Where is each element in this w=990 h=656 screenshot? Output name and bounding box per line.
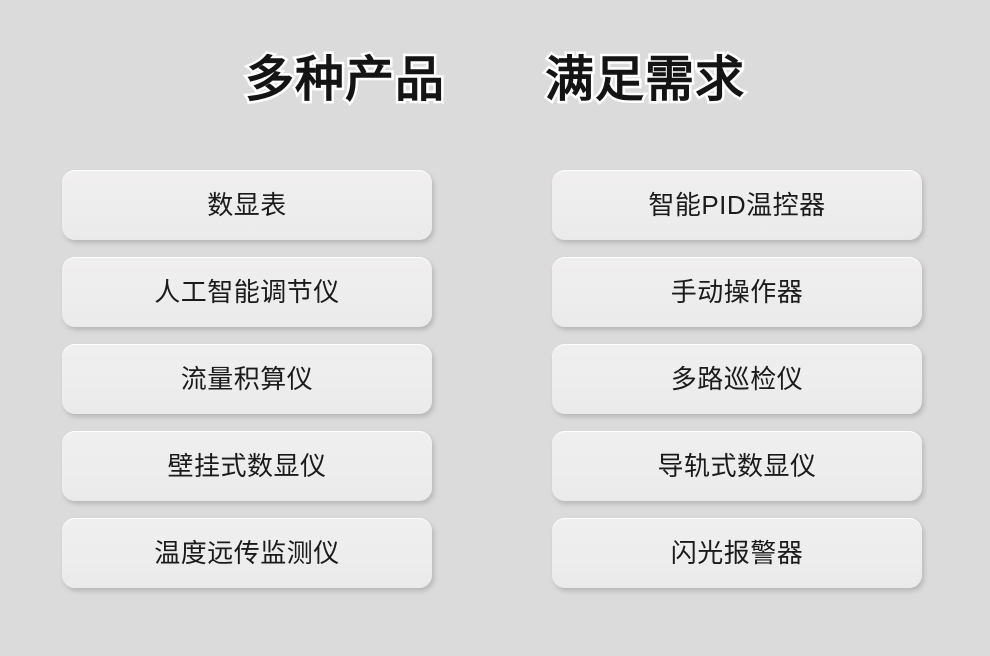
product-chip-multi-channel-scanner[interactable]: 多路巡检仪 [552, 344, 922, 414]
product-showcase-page: 多种产品 满足需求 数显表 智能PID温控器 人工智能调节仪 手动操作器 流量积… [0, 0, 990, 656]
product-chip-label: 手动操作器 [671, 279, 804, 305]
page-title: 多种产品 满足需求 [245, 56, 745, 105]
product-chip-shuxianbiao[interactable]: 数显表 [62, 170, 432, 240]
product-chip-wall-mounted-display[interactable]: 壁挂式数显仪 [62, 431, 432, 501]
product-chip-pid-temperature-controller[interactable]: 智能PID温控器 [552, 170, 922, 240]
product-chip-label: 壁挂式数显仪 [167, 453, 326, 479]
product-chip-grid: 数显表 智能PID温控器 人工智能调节仪 手动操作器 流量积算仪 多路巡检仪 壁… [62, 170, 922, 588]
product-chip-ai-regulator[interactable]: 人工智能调节仪 [62, 257, 432, 327]
page-title-container: 多种产品 满足需求 [0, 56, 990, 105]
product-chip-remote-temperature-monitor[interactable]: 温度远传监测仪 [62, 518, 432, 588]
product-chip-label: 闪光报警器 [671, 540, 804, 566]
product-chip-label: 导轨式数显仪 [657, 453, 816, 479]
product-chip-label: 多路巡检仪 [671, 366, 804, 392]
product-chip-flash-alarm[interactable]: 闪光报警器 [552, 518, 922, 588]
product-chip-label: 流量积算仪 [181, 366, 314, 392]
product-chip-label: 人工智能调节仪 [154, 279, 340, 305]
product-chip-label: 温度远传监测仪 [154, 540, 340, 566]
product-chip-label: 智能PID温控器 [648, 192, 825, 218]
product-chip-label: 数显表 [207, 192, 287, 218]
product-chip-rail-mounted-display[interactable]: 导轨式数显仪 [552, 431, 922, 501]
product-chip-manual-operator[interactable]: 手动操作器 [552, 257, 922, 327]
product-chip-flow-totalizer[interactable]: 流量积算仪 [62, 344, 432, 414]
